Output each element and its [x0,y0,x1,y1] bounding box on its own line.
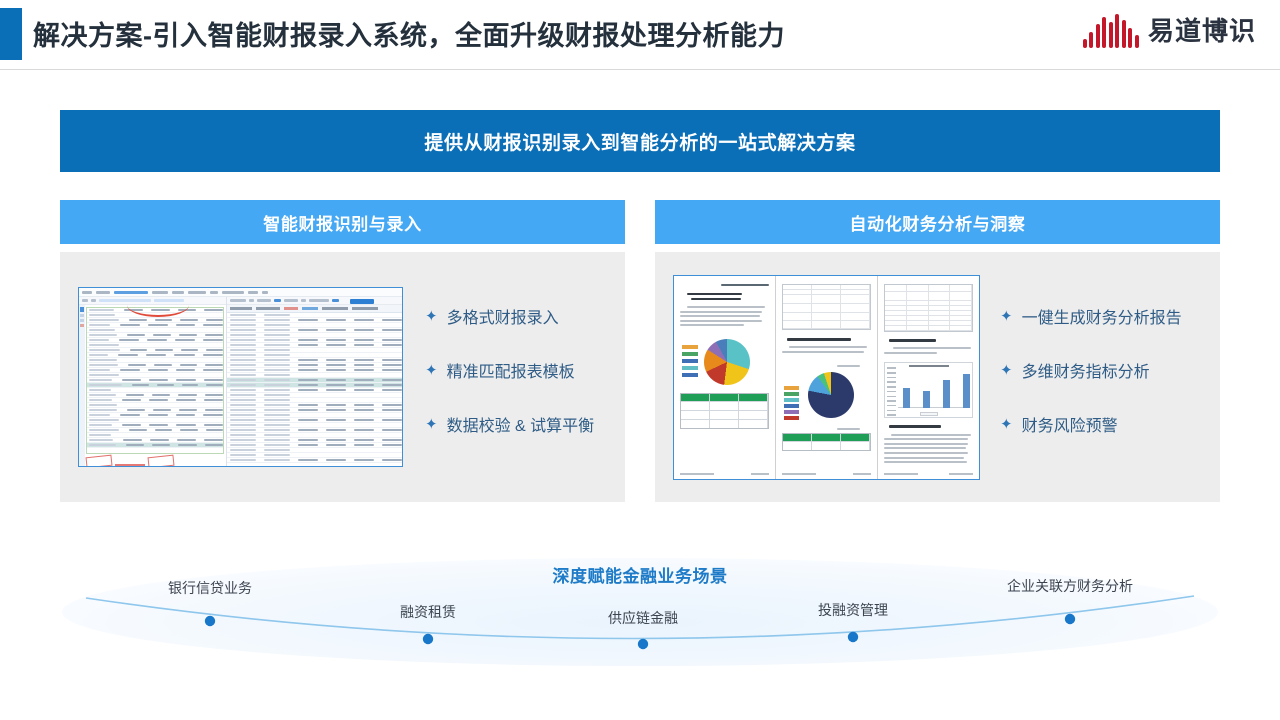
slide-header: 解决方案-引入智能财报录入系统，全面升级财报处理分析能力 易道博识 [0,0,1280,70]
diamond-bullet-icon: ✦ [425,363,438,378]
list-item-label: 一健生成财务分析报告 [1022,304,1182,328]
list-item: ✦ 财务风险预警 [1000,412,1182,436]
list-item-label: 多格式财报录入 [447,304,559,328]
bar-chart-bar [963,374,970,409]
scenario-node-label: 银行信贷业务 [168,578,252,598]
column-recognition-header: 智能财报识别与录入 [60,200,625,244]
total-asset-trend-bar-chart [884,362,973,418]
column-analysis-title: 自动化财务分析与洞察 [850,210,1026,235]
solution-banner-text: 提供从财报识别录入到智能分析的一站式解决方案 [424,128,855,155]
diamond-bullet-icon: ✦ [425,309,438,324]
current-asset-table [782,433,871,451]
column-recognition-body: ✦ 多格式财报录入 ✦ 精准匹配报表模板 ✦ 数据校验 & 试算平衡 [60,252,625,502]
bar-chart-bar [943,380,950,408]
confirm-button[interactable] [350,299,374,304]
brand-name: 易道博识 [1148,14,1256,48]
list-item: ✦ 多维财务指标分析 [1000,358,1182,382]
current-asset-pie-chart [808,372,854,418]
column-recognition: 智能财报识别与录入 [60,200,625,502]
scenario-node-dot[interactable] [638,639,648,649]
column-recognition-title: 智能财报识别与录入 [263,210,421,235]
financial-analysis-report-screenshot [673,275,980,480]
red-stamp-icon [85,454,112,467]
diamond-bullet-icon: ✦ [1000,309,1013,324]
financial-statement-entry-app-screenshot [78,287,403,467]
list-item-label: 精准匹配报表模板 [447,358,575,382]
list-item: ✦ 精准匹配报表模板 [425,358,594,382]
mapped-table-rows [227,313,402,463]
header-divider [0,69,1280,70]
recognition-feature-list: ✦ 多格式财报录入 ✦ 精准匹配报表模板 ✦ 数据校验 & 试算平衡 [425,304,594,436]
list-item: ✦ 多格式财报录入 [425,304,594,328]
report-page-footer [680,473,769,475]
scenario-node-dot[interactable] [1065,614,1075,624]
report-page-2 [776,276,878,479]
asset-structure-pie-chart [704,339,750,385]
scenario-timeline: 深度赋能金融业务场景 银行信贷业务融资租赁供应链金融投融资管理企业关联方财务分析 [0,540,1280,680]
source-statement-table [86,307,224,454]
app-toolbar [79,288,402,297]
header-accent-bar [0,8,22,60]
diamond-bullet-icon: ✦ [425,417,438,432]
scenario-node-label: 企业关联方财务分析 [1007,576,1133,596]
list-item: ✦ 数据校验 & 试算平衡 [425,412,594,436]
bar-chart-title [885,365,972,367]
diamond-bullet-icon: ✦ [1000,417,1013,432]
brand-mark-icon [1083,14,1139,48]
report-page-1 [674,276,776,479]
list-item-label: 财务风险预警 [1022,412,1118,436]
scenario-node-dot[interactable] [848,632,858,642]
table-row [87,443,223,448]
scenario-node-label: 融资租赁 [400,602,456,622]
bar-chart-bar [923,391,930,408]
report-page-footer [884,473,973,475]
bar-chart-bar [903,388,910,408]
report-page-3 [878,276,979,479]
slide-root: 解决方案-引入智能财报录入系统，全面升级财报处理分析能力 易道博识 提供从财报识… [0,0,1280,720]
diamond-bullet-icon: ✦ [1000,363,1013,378]
mapped-table-header [227,305,402,313]
scenario-node-dot[interactable] [205,616,215,626]
column-analysis-header: 自动化财务分析与洞察 [655,200,1220,244]
bar-chart-legend [920,412,938,416]
source-pane-footer [86,455,224,467]
bar-chart-y-axis [887,367,896,408]
brand-logo: 易道博识 [1083,14,1256,48]
asset-change-grid [884,284,973,332]
scenario-node-label: 投融资管理 [818,600,888,620]
source-document-pane [79,297,227,467]
list-item-label: 数据校验 & 试算平衡 [447,412,595,436]
red-stamp-icon-2 [147,454,174,467]
mapped-table-pane [227,297,402,467]
asset-summary-table [680,393,769,429]
column-analysis: 自动化财务分析与洞察 [655,200,1220,502]
app-workspace [79,297,402,467]
report-page-footer [782,473,871,475]
page-thumbnail-rail[interactable] [79,305,85,467]
scenario-node-dot[interactable] [423,634,433,644]
list-item: ✦ 一健生成财务分析报告 [1000,304,1182,328]
solution-banner: 提供从财报识别录入到智能分析的一站式解决方案 [60,110,1220,172]
liquid-asset-grid [782,284,871,330]
column-analysis-body: ✦ 一健生成财务分析报告 ✦ 多维财务指标分析 ✦ 财务风险预警 [655,252,1220,502]
page-title: 解决方案-引入智能财报录入系统，全面升级财报处理分析能力 [33,14,785,53]
table-row [227,458,402,463]
list-item-label: 多维财务指标分析 [1022,358,1150,382]
mapped-pane-toolbar [227,297,402,305]
analysis-feature-list: ✦ 一健生成财务分析报告 ✦ 多维财务指标分析 ✦ 财务风险预警 [1000,304,1182,436]
signature-mark-icon [115,457,145,466]
scenario-node-label: 供应链金融 [608,608,678,628]
